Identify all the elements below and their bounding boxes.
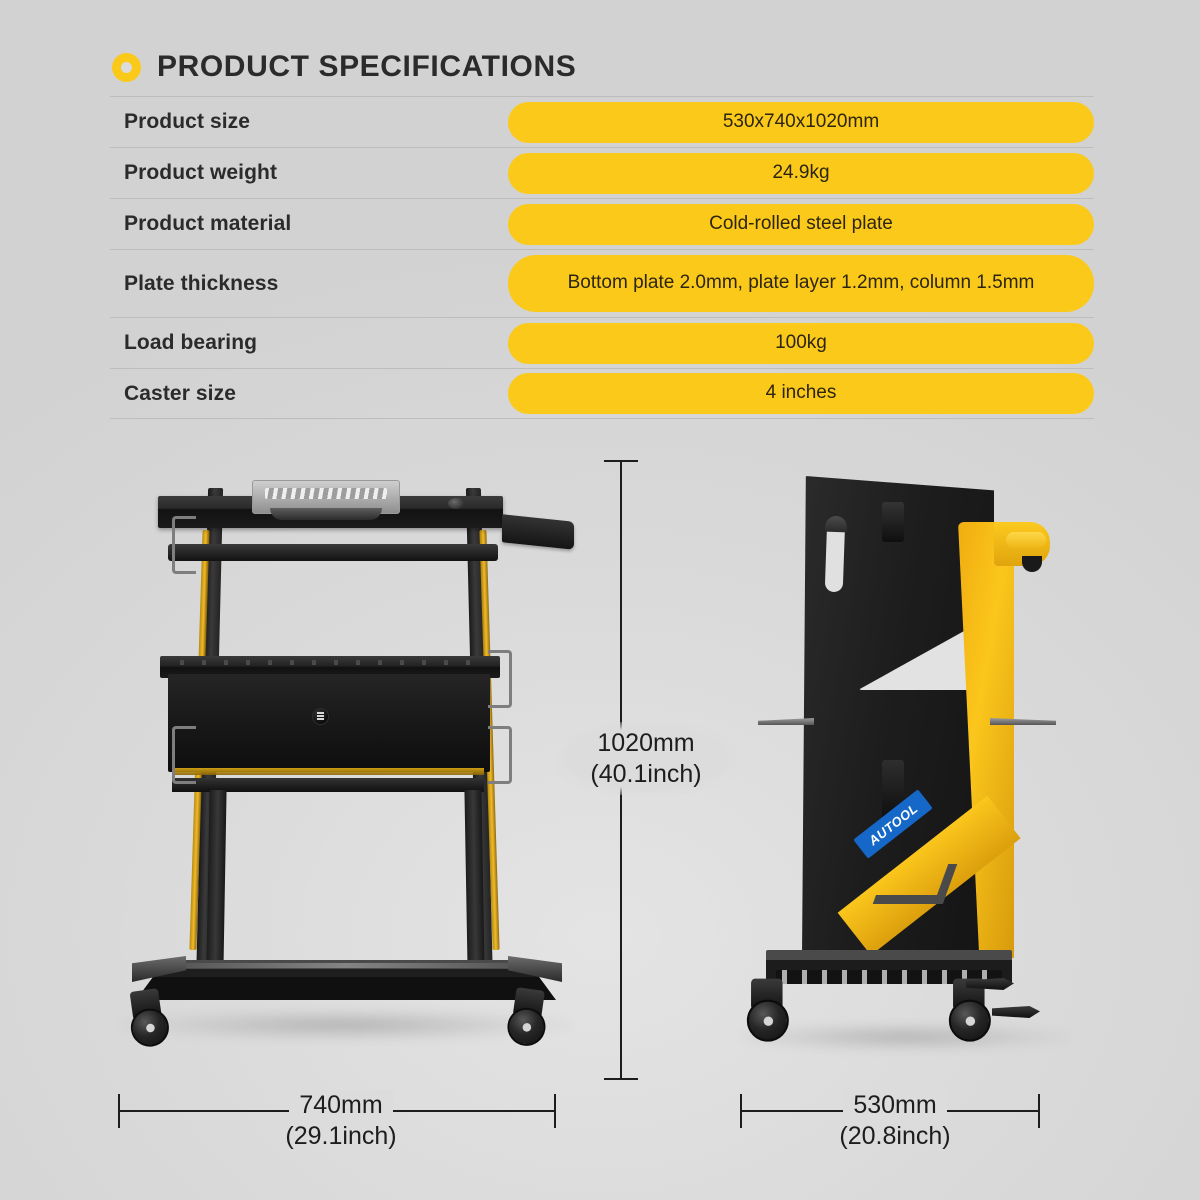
spec-label: Plate thickness xyxy=(110,272,508,296)
front-side-tray xyxy=(502,514,574,550)
front-knob xyxy=(448,498,464,509)
height-dimension-label: 1020mm (40.1inch) xyxy=(556,722,736,795)
table-row: Plate thickness Bottom plate 2.0mm, plat… xyxy=(110,249,1094,317)
side-handle-grip xyxy=(1006,532,1046,548)
width-dimension-label: 740mm (29.1inch) xyxy=(216,1090,466,1151)
spec-value: Bottom plate 2.0mm, plate layer 1.2mm, c… xyxy=(508,255,1094,312)
tool-cart-side-view: AUTOOL xyxy=(730,460,1090,1100)
table-row: Product weight 24.9kg xyxy=(110,147,1094,198)
height-value-inch: (40.1inch) xyxy=(556,759,736,790)
front-leg-left xyxy=(206,790,226,970)
spec-label: Caster size xyxy=(110,382,508,406)
side-chevron-emboss xyxy=(873,864,958,904)
front-base-highlight xyxy=(166,963,526,968)
front-hook-guard xyxy=(488,726,512,784)
side-arm-left xyxy=(758,718,814,725)
front-leg-right xyxy=(464,790,484,970)
dimension-cap xyxy=(604,1078,638,1080)
dimension-cap xyxy=(118,1094,120,1128)
front-hook-guard xyxy=(172,516,196,574)
caster-wheel xyxy=(126,987,176,1044)
spec-value: 4 inches xyxy=(508,373,1094,414)
front-accent-bar xyxy=(174,768,484,775)
caster-hub xyxy=(764,1016,773,1025)
side-bracket-upper xyxy=(882,502,904,542)
side-handle-cap xyxy=(1022,556,1042,572)
spec-value: 24.9kg xyxy=(508,153,1094,194)
dimension-cap xyxy=(1038,1094,1040,1128)
table-row: Product size 530x740x1020mm xyxy=(110,96,1094,147)
width-value-mm: 740mm xyxy=(289,1090,392,1121)
height-value-mm: 1020mm xyxy=(556,728,736,759)
depth-value-mm: 530mm xyxy=(843,1090,946,1121)
front-hook-guard xyxy=(172,726,196,784)
dimension-cap xyxy=(554,1094,556,1128)
spec-label: Product weight xyxy=(110,161,508,185)
side-panel-slot xyxy=(825,518,846,593)
tool-cart-front-view xyxy=(110,460,580,1100)
caster-brake-lever xyxy=(992,1006,1040,1018)
depth-value-inch: (20.8inch) xyxy=(770,1121,1020,1152)
spec-label: Product size xyxy=(110,110,508,134)
table-row: Load bearing 100kg xyxy=(110,317,1094,368)
dimension-cap xyxy=(604,460,638,462)
front-upper-crossbar xyxy=(168,544,498,561)
front-shelf-perforations xyxy=(180,660,480,665)
spec-value: Cold-rolled steel plate xyxy=(508,204,1094,245)
spec-value: 530x740x1020mm xyxy=(508,102,1094,143)
front-scanner-base xyxy=(270,508,382,520)
front-drawer-box xyxy=(168,674,490,772)
caster-wheel xyxy=(747,979,795,1036)
page-header: PRODUCT SPECIFICATIONS xyxy=(112,48,576,86)
front-hook-guard xyxy=(488,650,512,708)
table-row: Product material Cold-rolled steel plate xyxy=(110,198,1094,249)
front-view-shadow xyxy=(120,1008,570,1042)
caster-wheel xyxy=(506,987,556,1044)
ring-bullet-icon xyxy=(112,53,141,82)
depth-dimension-label: 530mm (20.8inch) xyxy=(770,1090,1020,1151)
specifications-table: Product size 530x740x1020mm Product weig… xyxy=(110,96,1094,419)
spec-label: Product material xyxy=(110,212,508,236)
product-spec-page: PRODUCT SPECIFICATIONS Product size 530x… xyxy=(0,0,1200,1200)
page-title: PRODUCT SPECIFICATIONS xyxy=(157,52,576,82)
caster-hub xyxy=(966,1016,975,1025)
table-row: Caster size 4 inches xyxy=(110,368,1094,419)
spec-value: 100kg xyxy=(508,323,1094,364)
side-arm-right xyxy=(990,718,1056,725)
dimension-cap xyxy=(740,1094,742,1128)
spec-label: Load bearing xyxy=(110,331,508,355)
lock-icon xyxy=(312,708,329,725)
width-value-inch: (29.1inch) xyxy=(216,1121,466,1152)
